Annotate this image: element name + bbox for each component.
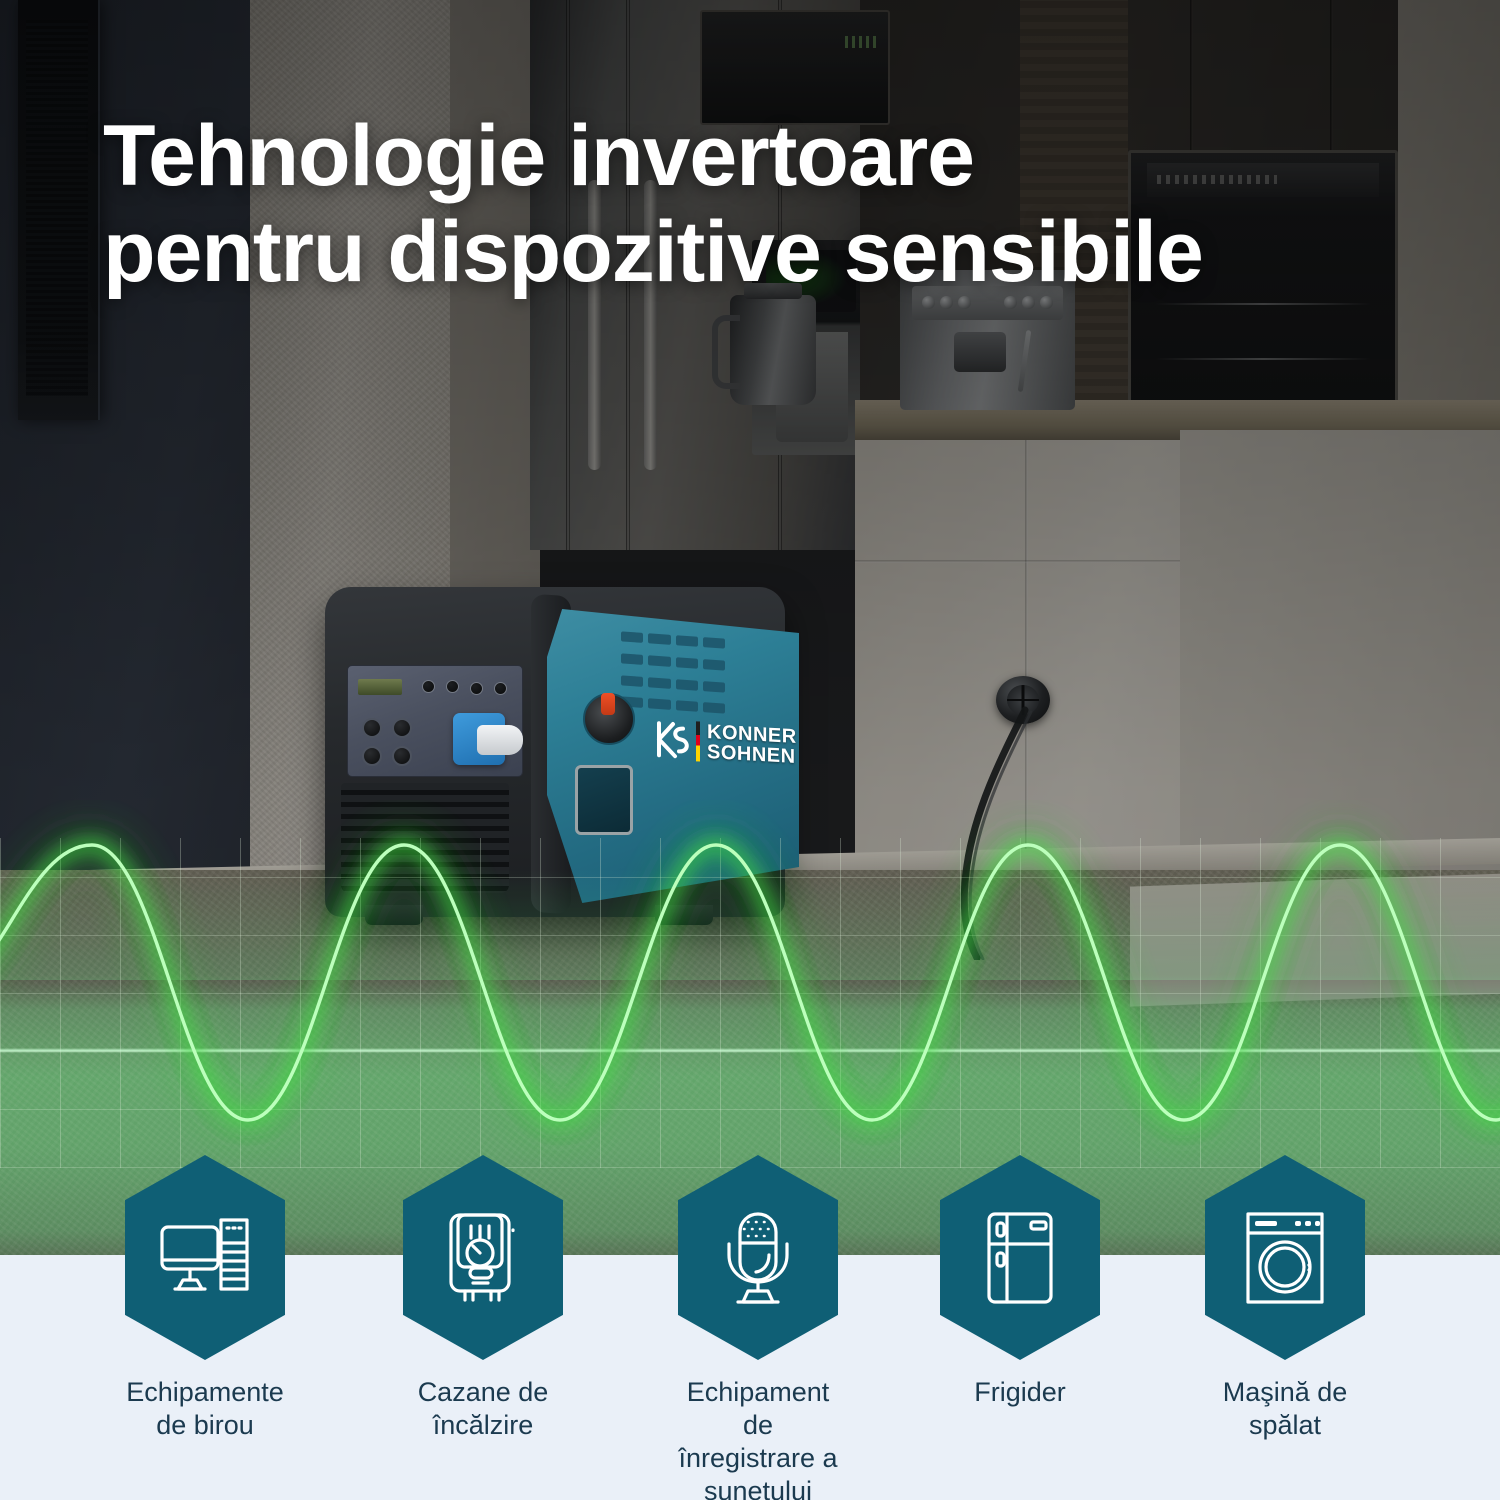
category-item-office-equipment[interactable]: Echipamente de birou — [115, 1155, 295, 1442]
water-heater-boiler-icon — [443, 1212, 523, 1304]
category-list: Echipamente de birou — [0, 1150, 1500, 1500]
inverter-generator-product: KONNER SOHNEN — [325, 565, 825, 955]
poster-root: KONNER SOHNEN Tehnologie invertoare — [0, 0, 1500, 1500]
generator-lcd-display — [358, 679, 402, 695]
desktop-computer-icon — [159, 1217, 251, 1299]
category-label: Maşină de spălat — [1195, 1376, 1375, 1442]
konner-sohnen-logo: KONNER SOHNEN — [655, 719, 797, 768]
generator-foot-right — [655, 905, 713, 925]
headline-line-2: pentru dispozitive sensibile — [103, 204, 1433, 300]
category-item-heating-boilers[interactable]: Cazane de încălzire — [393, 1155, 573, 1442]
category-item-sound-recording[interactable]: Echipament de înregistrare a sunetului — [668, 1155, 848, 1500]
generator-foot-left — [365, 905, 423, 925]
ks-logo-color-bar — [696, 722, 700, 762]
hexagon-badge — [678, 1155, 838, 1360]
hexagon-badge — [403, 1155, 563, 1360]
hexagon-badge — [940, 1155, 1100, 1360]
generator-recessed-port — [575, 765, 633, 835]
ks-brand-text: KONNER SOHNEN — [707, 722, 797, 768]
category-item-washing-machine[interactable]: Maşină de spălat — [1195, 1155, 1375, 1442]
generator-air-vents — [341, 783, 509, 893]
page-title: Tehnologie invertoare pentru dispozitive… — [103, 108, 1433, 301]
hexagon-badge — [1205, 1155, 1365, 1360]
wall-tv-panel — [18, 0, 100, 420]
hexagon-badge — [125, 1155, 285, 1360]
category-item-refrigerator[interactable]: Frigider — [930, 1155, 1110, 1409]
category-label: Frigider — [930, 1376, 1110, 1409]
generator-fuel-knob — [583, 693, 635, 745]
category-label: Echipamente de birou — [115, 1376, 295, 1442]
generator-vent-grille — [621, 631, 725, 720]
category-label: Cazane de încălzire — [393, 1376, 573, 1442]
category-label: Echipament de înregistrare a sunetului — [668, 1376, 848, 1500]
headline-line-1: Tehnologie invertoare — [103, 108, 974, 204]
generator-plugged-connector — [477, 725, 523, 755]
microphone-icon — [714, 1211, 802, 1305]
ks-logo-icon — [655, 719, 689, 761]
electric-kettle — [730, 295, 816, 405]
wall-power-socket — [996, 676, 1050, 724]
washing-machine-icon — [1243, 1211, 1327, 1305]
refrigerator-icon — [983, 1211, 1057, 1305]
floor-step-platform — [1130, 873, 1500, 1006]
